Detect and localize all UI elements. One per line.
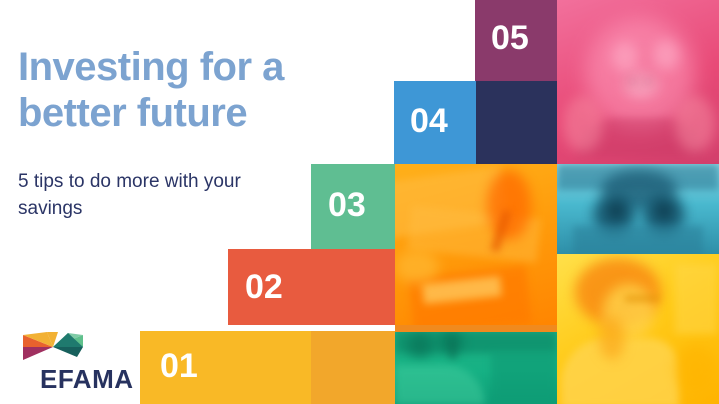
efama-wordmark: EFAMA	[40, 364, 134, 395]
step-tile-05[interactable]: 05	[475, 0, 557, 81]
step-number-01: 01	[160, 349, 198, 383]
step-tile-02[interactable]: 02	[228, 249, 395, 325]
slide-canvas: Investing for a better future 5 tips to …	[0, 0, 719, 404]
page-subtitle: 5 tips to do more with your savings	[18, 168, 278, 222]
step-number-02: 02	[245, 270, 283, 304]
efama-logo: EFAMA	[18, 330, 138, 396]
navy-block	[475, 81, 557, 164]
step-number-05: 05	[491, 21, 529, 55]
photo-desk-with-calculator-and-papers	[395, 164, 557, 331]
photo-green-country-path	[395, 331, 557, 404]
efama-butterfly-icon	[22, 330, 84, 364]
photo-piggy-bank-in-hands	[557, 0, 719, 164]
amber-block	[311, 331, 395, 404]
step-tile-04[interactable]: 04	[394, 81, 476, 164]
photo-woman-thinking-at-desk	[557, 254, 719, 404]
photo-person-with-binoculars	[557, 164, 719, 254]
step-tile-01[interactable]: 01	[140, 331, 311, 404]
step-number-04: 04	[410, 104, 448, 138]
step-number-03: 03	[328, 188, 366, 222]
orange-strip	[395, 325, 557, 332]
page-title: Investing for a better future	[18, 44, 348, 136]
step-tile-03[interactable]: 03	[311, 164, 395, 249]
